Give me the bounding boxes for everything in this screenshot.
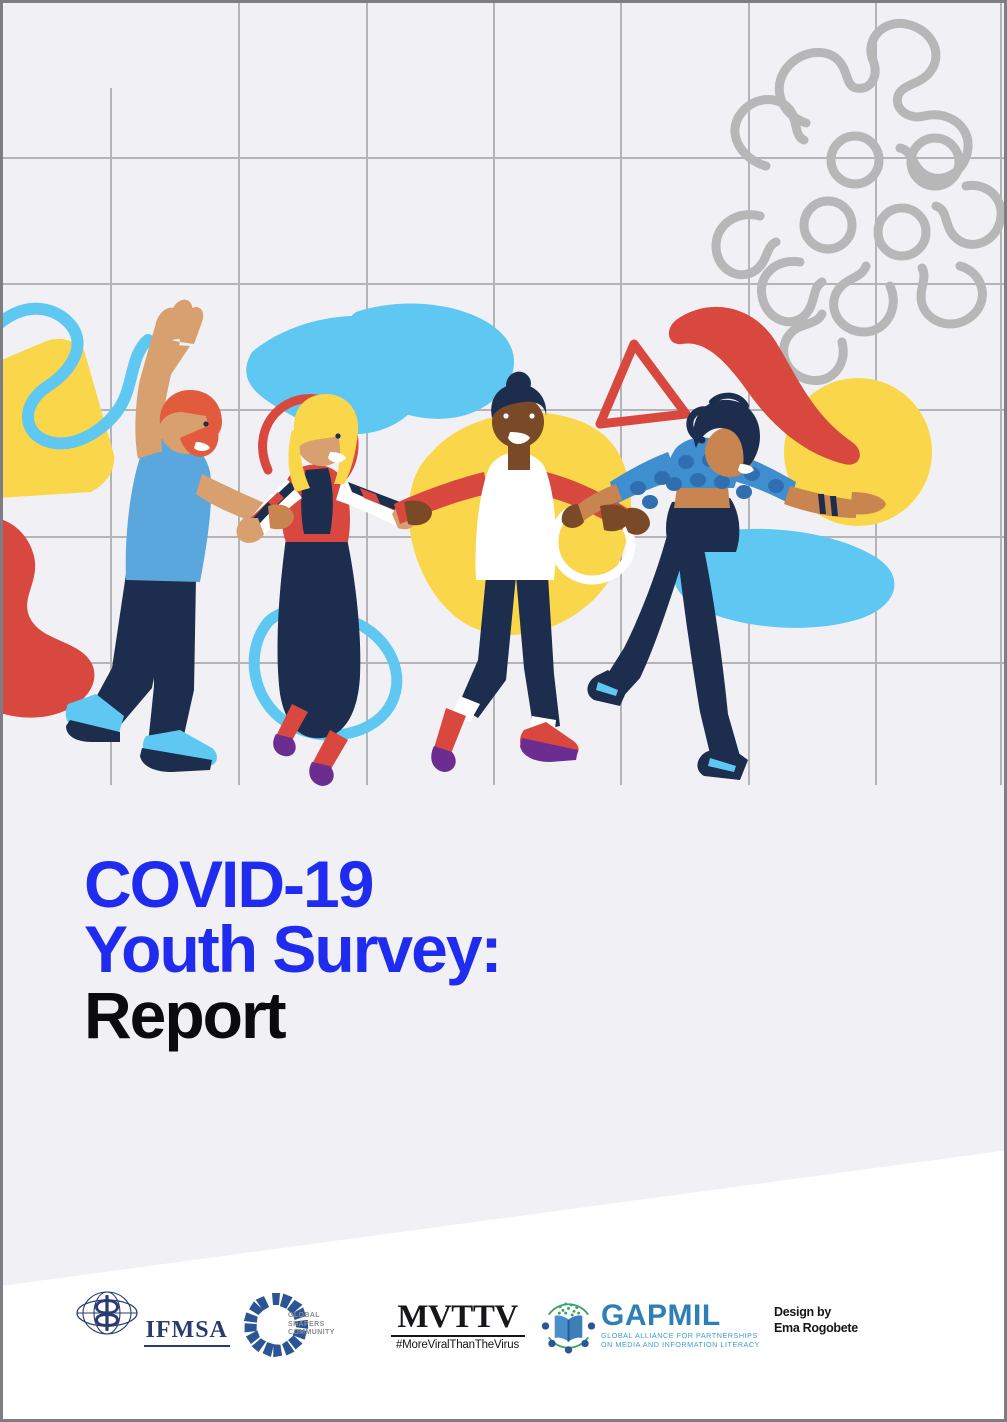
design-credit-line-2: Ema Rogobete [774,1321,858,1337]
global-shapers-wordmark: GLOBAL SHAPERS COMMUNITY [288,1312,335,1338]
eye [203,421,208,426]
red-triangle-outline [600,344,686,424]
global-shapers-logo[interactable]: GLOBAL SHAPERS COMMUNITY [240,1283,375,1361]
shapers-line-3: COMMUNITY [288,1329,335,1338]
mvttv-tagline: #MoreViralThanTheVirus [375,1339,540,1351]
eye [503,413,508,418]
globe-emblem-icon [75,1291,139,1337]
skirt [278,534,361,738]
eye [335,433,340,438]
design-credit: Design by Ema Rogobete [774,1283,858,1336]
cover-illustration [0,0,1007,800]
title-line-2: Youth Survey: [84,917,501,982]
shapers-line-2: SHAPERS [288,1321,335,1330]
ifmsa-logo[interactable]: IFMSA [65,1283,240,1347]
title-line-1: COVID-19 [84,852,501,917]
design-credit-line-1: Design by [774,1305,858,1321]
mvttv-logo[interactable]: MVTTV #MoreViralThanTheVirus [375,1283,540,1351]
gapmil-wordmark: GAPMIL [601,1302,760,1331]
gapmil-logo[interactable]: GAPMIL GLOBAL ALLIANCE FOR PARTNERSHIPS … [540,1283,760,1357]
shapers-line-1: GLOBAL [288,1312,335,1321]
gapmil-tagline-1: GLOBAL ALLIANCE FOR PARTNERSHIPS [601,1331,760,1341]
page-title: COVID-19 Youth Survey: Report [84,852,501,1048]
gapmil-text-block: GAPMIL GLOBAL ALLIANCE FOR PARTNERSHIPS … [601,1302,760,1350]
eye [529,413,534,418]
ifmsa-wordmark: IFMSA [144,1317,230,1347]
yellow-triangle-shape [0,339,114,500]
mvttv-wordmark: MVTTV [375,1301,540,1334]
red-blob-left [0,516,94,718]
footer-logo-bar: IFMSA [0,1283,1007,1393]
open-book-dotted-circle-icon [540,1295,597,1357]
hand [155,300,204,376]
title-line-3: Report [84,983,501,1048]
tshirt [126,438,212,582]
report-cover: COVID-19 Youth Survey: Report [0,0,1007,1422]
eye [743,447,748,452]
mvttv-rule [391,1335,525,1337]
gapmil-tagline-2: ON MEDIA AND INFORMATION LITERACY [601,1340,760,1350]
